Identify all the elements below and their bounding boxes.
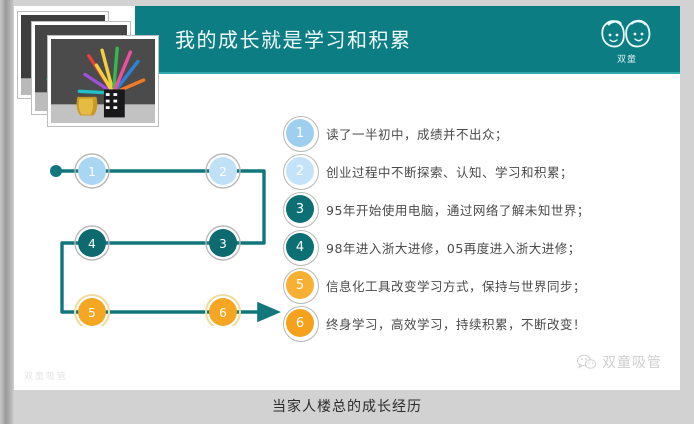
brand-name: 双童 [596,52,658,65]
list-item[interactable]: 3 95年开始使用电脑，通过网络了解未知世界； [286,190,680,228]
list-item[interactable]: 4 98年进入浙大进修，05再度进入浙大进修； [286,228,680,266]
brand-logo: 双童 [596,12,658,70]
list-item-text-6: 终身学习，高效学习，持续积累，不断改变！ [326,314,586,333]
slide-canvas: 我的成长就是学习和积累 [14,6,680,390]
diagram-node-3-label: 3 [219,237,227,251]
list-item[interactable]: 1 读了一半初中，成绩并不出众； [286,114,680,152]
corner-watermark: 双童吸管 [24,369,68,382]
diagram-node-1[interactable]: 1 [75,154,109,188]
snake-diagram-svg: 1 2 3 4 [24,126,294,326]
diagram-node-1-label: 1 [88,165,96,179]
diagram-node-2[interactable]: 2 [206,154,240,188]
wechat-watermark: 双童吸管 [577,352,662,372]
diagram-node-5-label: 5 [88,306,96,320]
list-badge-1: 1 [286,119,314,147]
list-item[interactable]: 2 创业过程中不断探索、认知、学习和积累； [286,152,680,190]
diagram-node-6-label: 6 [219,306,227,320]
growth-item-list: 1 读了一半初中，成绩并不出众； 2 创业过程中不断探索、认知、学习和积累； 3… [286,114,680,342]
diagram-node-2-label: 2 [219,165,227,179]
list-item[interactable]: 5 信息化工具改变学习方式，保持与世界同步； [286,266,680,304]
slide-root: 我的成长就是学习和积累 [0,0,694,424]
diagram-node-5[interactable]: 5 [75,295,109,326]
list-badge-2: 2 [286,157,314,185]
photo-stack [14,8,162,126]
diagram-node-4-label: 4 [88,237,96,251]
growth-path-diagram: 1 2 3 4 [24,126,294,326]
diagram-node-3[interactable]: 3 [206,226,240,260]
list-badge-3: 3 [286,195,314,223]
diagram-node-6[interactable]: 6 [206,295,240,326]
list-badge-6: 6 [286,309,314,337]
list-item-text-4: 98年进入浙大进修，05再度进入浙大进修； [326,238,581,257]
list-badge-5: 5 [286,271,314,299]
list-item-text-5: 信息化工具改变学习方式，保持与世界同步； [326,276,586,295]
wechat-logo-icon [577,354,597,370]
wechat-watermark-text: 双童吸管 [602,352,662,372]
slide-caption: 当家人楼总的成长经历 [0,396,694,416]
diagram-node-4[interactable]: 4 [75,226,109,260]
list-item[interactable]: 6 终身学习，高效学习，持续积累，不断改变！ [286,304,680,342]
list-item-text-1: 读了一半初中，成绩并不出众； [326,124,508,143]
two-children-faces-icon [596,12,658,52]
page-title: 我的成长就是学习和积累 [175,24,412,53]
list-item-text-3: 95年开始使用电脑，通过网络了解未知世界； [326,200,590,219]
header-bar: 我的成长就是学习和积累 [135,6,680,74]
straw-photo-front [48,36,158,126]
list-item-text-2: 创业过程中不断探索、认知、学习和积累； [326,162,573,181]
list-badge-4: 4 [286,233,314,261]
